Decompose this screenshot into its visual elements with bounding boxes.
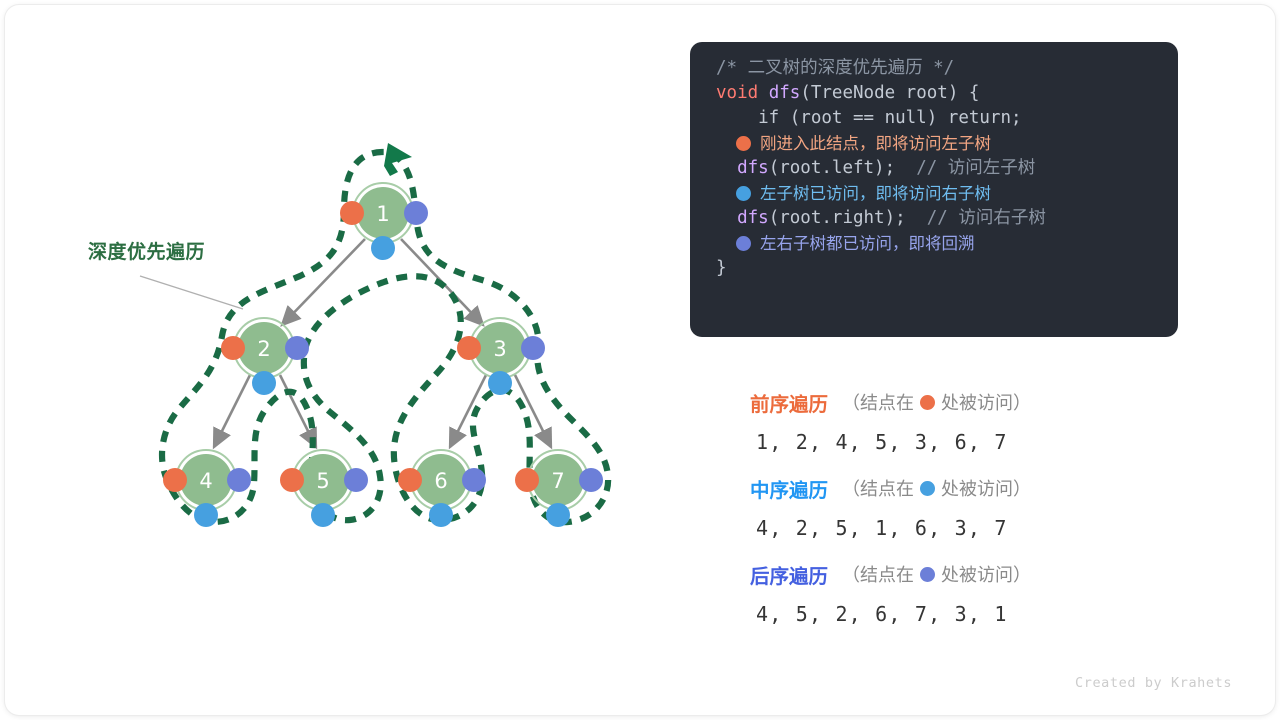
node-5-label: 5 <box>316 469 329 493</box>
code-line: /* 二叉树的深度优先遍历 */ <box>716 56 1156 81</box>
tree-node-2[interactable]: 2 <box>221 318 309 395</box>
node-7-preorder-dot <box>515 468 539 492</box>
edge-1-2 <box>282 239 365 325</box>
legend-title-inorder: 中序遍历 <box>750 474 828 503</box>
node-7-label: 7 <box>551 469 564 493</box>
binary-tree-diagram: 1 2 3 <box>0 0 680 720</box>
node-6-postorder-dot <box>462 468 486 492</box>
legend-sequence-inorder: 4, 2, 5, 1, 6, 3, 7 <box>756 516 1180 540</box>
postorder-dot-icon <box>920 567 935 582</box>
legend-head-preorder: 前序遍历（结点在处被访问） <box>750 386 1180 418</box>
code-block: /* 二叉树的深度优先遍历 */void dfs(TreeNode root) … <box>690 42 1178 337</box>
node-6-inorder-dot <box>429 503 453 527</box>
code-line: void dfs(TreeNode root) { <box>716 81 1156 106</box>
node-7-inorder-dot <box>546 503 570 527</box>
code-token <box>716 208 737 228</box>
legend-sequence-postorder: 4, 5, 2, 6, 7, 3, 1 <box>756 602 1180 626</box>
legend-paren-right: 处被访问） <box>941 389 1031 415</box>
legend-head-postorder: 后序遍历（结点在处被访问） <box>750 558 1180 590</box>
code-token: void <box>716 83 758 103</box>
code-token: (TreeNode root) { <box>800 83 979 103</box>
legend-paren-left: （结点在 <box>842 475 914 501</box>
figure-canvas: 1 2 3 <box>0 0 1280 720</box>
code-token: // 访问右子树 <box>927 208 1046 228</box>
node-1-inorder-dot <box>371 236 395 260</box>
postorder-dot-icon <box>736 236 751 251</box>
legend-title-preorder: 前序遍历 <box>750 388 828 417</box>
code-token: /* 二叉树的深度优先遍历 */ <box>716 58 954 78</box>
node-1-label: 1 <box>376 202 389 226</box>
node-2-inorder-dot <box>252 371 276 395</box>
code-note-line-post: 左右子树都已访问，即将回溯 <box>716 231 1156 256</box>
code-token: dfs <box>737 158 769 178</box>
node-3-inorder-dot <box>488 371 512 395</box>
inorder-dot-icon <box>920 481 935 496</box>
legend-paren-left: （结点在 <box>842 389 914 415</box>
code-lines: /* 二叉树的深度优先遍历 */void dfs(TreeNode root) … <box>716 56 1156 281</box>
code-line: dfs(root.right); // 访问右子树 <box>716 206 1156 231</box>
code-token: (root.left); <box>769 158 917 178</box>
preorder-dot-icon <box>920 395 935 410</box>
code-line: if (root == null) return; <box>716 106 1156 131</box>
legend-head-inorder: 中序遍历（结点在处被访问） <box>750 472 1180 504</box>
code-line: } <box>716 256 1156 281</box>
legend-sequence-preorder: 1, 2, 4, 5, 3, 6, 7 <box>756 430 1180 454</box>
dfs-caption-label: 深度优先遍历 <box>88 237 205 264</box>
legend-title-postorder: 后序遍历 <box>750 560 828 589</box>
inorder-dot-icon <box>736 186 751 201</box>
legend-group-postorder: 后序遍历（结点在处被访问）4, 5, 2, 6, 7, 3, 1 <box>750 558 1180 626</box>
watermark: Created by Krahets <box>1075 675 1232 691</box>
tree-svg: 1 2 3 <box>0 0 680 720</box>
node-1-postorder-dot <box>404 201 428 225</box>
code-token: } <box>716 258 727 278</box>
code-note-text: 刚进入此结点，即将访问左子树 <box>760 131 991 156</box>
legend-paren-right: 处被访问） <box>941 475 1031 501</box>
node-4-postorder-dot <box>227 468 251 492</box>
code-token <box>716 158 737 178</box>
caption-leader-line <box>140 276 243 309</box>
node-4-preorder-dot <box>163 468 187 492</box>
legend-group-preorder: 前序遍历（结点在处被访问）1, 2, 4, 5, 3, 6, 7 <box>750 386 1180 454</box>
code-token: dfs <box>769 83 801 103</box>
node-2-preorder-dot <box>221 336 245 360</box>
node-3-label: 3 <box>493 337 506 361</box>
node-4-inorder-dot <box>194 503 218 527</box>
edge-2-4 <box>214 375 250 447</box>
code-token: dfs <box>737 208 769 228</box>
preorder-dot-icon <box>736 136 751 151</box>
node-7-postorder-dot <box>579 468 603 492</box>
tree-node-6[interactable]: 6 <box>398 450 486 527</box>
edge-3-6 <box>450 375 486 447</box>
code-note-line-in: 左子树已访问，即将访问右子树 <box>716 181 1156 206</box>
code-note-text: 左子树已访问，即将访问右子树 <box>760 181 991 206</box>
legend-paren-left: （结点在 <box>842 561 914 587</box>
code-line: dfs(root.left); // 访问左子树 <box>716 156 1156 181</box>
node-2-label: 2 <box>257 337 270 361</box>
code-note-text: 左右子树都已访问，即将回溯 <box>760 231 975 256</box>
traversal-legend: 前序遍历（结点在处被访问）1, 2, 4, 5, 3, 6, 7中序遍历（结点在… <box>750 386 1180 644</box>
node-3-postorder-dot <box>521 336 545 360</box>
code-token: (root.right); <box>769 208 927 228</box>
code-note-line-pre: 刚进入此结点，即将访问左子树 <box>716 131 1156 156</box>
node-4-label: 4 <box>199 469 212 493</box>
code-token: if (root == null) return; <box>716 108 1022 128</box>
node-5-postorder-dot <box>344 468 368 492</box>
tree-node-5[interactable]: 5 <box>280 450 368 527</box>
node-3-preorder-dot <box>457 336 481 360</box>
tree-node-3[interactable]: 3 <box>457 318 545 395</box>
node-6-preorder-dot <box>398 468 422 492</box>
node-5-inorder-dot <box>311 503 335 527</box>
node-1-preorder-dot <box>340 201 364 225</box>
legend-group-inorder: 中序遍历（结点在处被访问）4, 2, 5, 1, 6, 3, 7 <box>750 472 1180 540</box>
node-2-postorder-dot <box>285 336 309 360</box>
node-5-preorder-dot <box>280 468 304 492</box>
legend-paren-right: 处被访问） <box>941 561 1031 587</box>
code-token <box>758 83 769 103</box>
code-token: // 访问左子树 <box>916 158 1035 178</box>
node-6-label: 6 <box>434 469 447 493</box>
